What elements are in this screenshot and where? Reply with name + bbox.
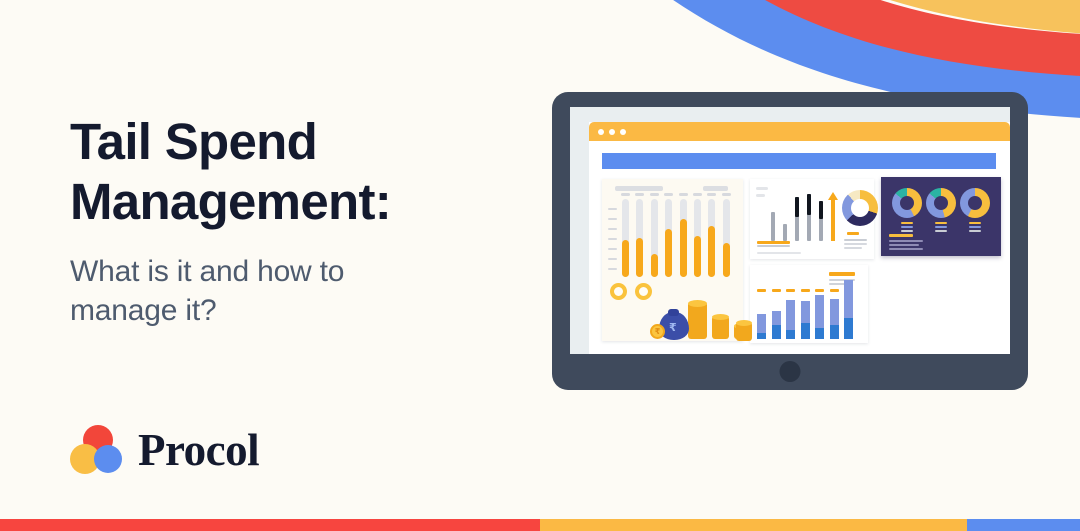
- brand-logo[interactable]: Procol: [70, 424, 259, 476]
- dashboard-header-banner: [602, 153, 996, 169]
- bar-cap: [664, 193, 673, 196]
- thermometer-bar-fill: [665, 229, 672, 277]
- stacked-bar-lower: [757, 333, 766, 339]
- thermometer-bar-track: [680, 199, 687, 277]
- bar-cap: [635, 193, 644, 196]
- legend-line: [844, 243, 867, 245]
- stacked-bar: [786, 300, 795, 339]
- bar-cap: [650, 193, 659, 196]
- procol-mark-icon: [70, 425, 124, 475]
- category-donut-3[interactable]: [960, 188, 990, 218]
- thermometer-bar-fill: [694, 236, 701, 277]
- coin-stack-accent-top: [736, 320, 752, 326]
- thermometer-bar-fill: [723, 243, 730, 277]
- tablet-screen: ₹ ₹: [570, 107, 1010, 354]
- legend-line: [889, 234, 913, 237]
- bottom-bar-segment-blue: [967, 519, 1080, 531]
- target-line-dash-segment: [757, 289, 766, 292]
- bar-cap: [707, 193, 716, 196]
- target-line-dashed: [757, 289, 857, 292]
- thermometer-bar-track: [651, 199, 658, 277]
- spend-split-donut-chart[interactable]: [842, 190, 878, 226]
- legend-line: [935, 226, 947, 228]
- logo-wordmark: Procol: [138, 424, 259, 476]
- red-swoosh: [668, 0, 1080, 78]
- panel-category-donuts[interactable]: [881, 177, 1001, 256]
- stacked-bar-lower: [830, 325, 839, 339]
- trend-bar-group: [771, 191, 827, 241]
- trend-bar: [795, 197, 799, 241]
- tablet-illustration: ₹ ₹: [552, 92, 1028, 390]
- trend-bar: [807, 194, 811, 242]
- target-line-dash-segment: [786, 289, 795, 292]
- rupee-coin-icon: ₹: [650, 324, 665, 339]
- trend-bar: [771, 212, 775, 241]
- donut-hole: [851, 199, 869, 217]
- category-donut-1[interactable]: [892, 188, 922, 218]
- trend-bar-highlight: [819, 201, 823, 219]
- trend-bar: [819, 201, 823, 241]
- page-subtitle: What is it and how to manage it?: [70, 252, 530, 330]
- thermometer-bar-fill: [651, 254, 658, 277]
- stacked-bar: [757, 314, 766, 339]
- legend-line: [889, 244, 919, 246]
- donut-hole: [900, 196, 914, 210]
- panel-trend-and-split[interactable]: [750, 179, 874, 259]
- browser-titlebar: [589, 122, 1010, 141]
- target-line-dash-segment: [772, 289, 781, 292]
- axis-tick: [608, 268, 617, 270]
- page-title: Tail Spend Management:: [70, 112, 530, 232]
- thermometer-bar-fill: [708, 226, 715, 277]
- thermometer-bar-track: [622, 199, 629, 277]
- thermometer-bar-track: [694, 199, 701, 277]
- donut-hole: [934, 196, 948, 210]
- stacked-bar: [815, 295, 824, 339]
- bar-cap: [679, 193, 688, 196]
- legend-line: [969, 222, 981, 224]
- legend-line: [889, 248, 923, 250]
- thermometer-bar-track: [665, 199, 672, 277]
- thermometer-bar-fill: [680, 219, 687, 277]
- stacked-bar-lower: [844, 318, 853, 339]
- thermometer-bar-track: [723, 199, 730, 277]
- window-maximize-dot-icon[interactable]: [620, 129, 626, 135]
- growth-arrow-head-icon: [828, 192, 838, 200]
- target-line-dash-segment: [801, 289, 810, 292]
- axis-tick: [608, 218, 617, 220]
- yellow-swoosh: [716, 0, 1080, 36]
- growth-arrow-shaft-icon: [831, 199, 835, 241]
- browser-window: ₹ ₹: [589, 122, 1010, 354]
- logo-circle-blue-icon: [94, 445, 122, 473]
- legend-line: [889, 240, 923, 242]
- thermometer-bar-group: [622, 199, 738, 277]
- trend-bar: [783, 224, 787, 241]
- legend-line: [757, 241, 790, 244]
- kpi-ring-icon: [610, 283, 627, 300]
- donut-hole: [968, 196, 982, 210]
- bar-cap: [621, 193, 630, 196]
- trend-bar-highlight: [795, 197, 799, 217]
- stacked-bar-lower: [815, 328, 824, 339]
- bar-cap: [722, 193, 731, 196]
- axis-tick: [608, 238, 617, 240]
- money-bag-neck: [668, 309, 679, 316]
- poster-canvas: Tail Spend Management: What is it and ho…: [0, 0, 1080, 531]
- legend-line: [969, 230, 981, 232]
- window-close-dot-icon[interactable]: [598, 129, 604, 135]
- thermometer-bar-track: [636, 199, 643, 277]
- stacked-bar-lower: [772, 325, 781, 339]
- target-line-dash-segment: [830, 289, 839, 292]
- legend-line: [844, 247, 862, 249]
- stacked-bar-lower: [786, 330, 795, 339]
- axis-tick: [608, 228, 617, 230]
- thermometer-bar-fill: [636, 238, 643, 277]
- legend-line: [901, 226, 913, 228]
- panel-tail-spend-thermometer[interactable]: ₹ ₹: [602, 179, 743, 341]
- browser-content: ₹ ₹: [589, 141, 1010, 354]
- legend-line: [847, 232, 859, 235]
- bottom-bar-segment-red: [0, 519, 540, 531]
- axis-tick: [608, 258, 617, 260]
- target-line-dash-segment: [815, 289, 824, 292]
- bottom-bar-segment-yellow: [540, 519, 967, 531]
- axis-tick: [608, 208, 617, 210]
- bottom-accent-bar: [0, 519, 1080, 531]
- money-illustration: ₹ ₹: [650, 287, 742, 341]
- category-donut-2[interactable]: [926, 188, 956, 218]
- panel-subtitle-placeholder: [703, 186, 728, 191]
- coin-stack-tall: [688, 302, 707, 339]
- stacked-bar: [830, 299, 839, 339]
- legend-line: [969, 226, 981, 228]
- panel-supplier-stacked-bars[interactable]: [750, 265, 868, 343]
- legend-line: [901, 230, 913, 232]
- legend-line: [901, 222, 913, 224]
- stacked-bar-group: [757, 295, 861, 339]
- coin-stack-tall-top: [688, 300, 707, 307]
- home-button[interactable]: [780, 361, 801, 382]
- panel-title-placeholder: [615, 186, 663, 191]
- coin-stack-mid-top: [712, 314, 729, 320]
- legend-line: [935, 222, 947, 224]
- thermometer-bar-track: [708, 199, 715, 277]
- stacked-bar: [844, 280, 853, 339]
- stacked-bar-lower: [801, 323, 810, 339]
- panel-label-placeholder: [756, 187, 768, 190]
- legend-line: [829, 272, 855, 276]
- stacked-bar: [801, 301, 810, 339]
- legend-line: [935, 230, 947, 232]
- axis-tick: [608, 248, 617, 250]
- window-minimize-dot-icon[interactable]: [609, 129, 615, 135]
- legend-line: [757, 245, 790, 247]
- legend-line: [757, 252, 801, 254]
- bar-cap: [693, 193, 702, 196]
- thermometer-bar-fill: [622, 240, 629, 277]
- hero-text-block: Tail Spend Management: What is it and ho…: [70, 112, 530, 330]
- legend-line: [844, 239, 867, 241]
- trend-bar-highlight: [807, 194, 811, 215]
- stacked-bar: [772, 311, 781, 339]
- rupee-symbol-on-bag: ₹: [669, 321, 677, 334]
- panel-label-placeholder: [756, 194, 765, 197]
